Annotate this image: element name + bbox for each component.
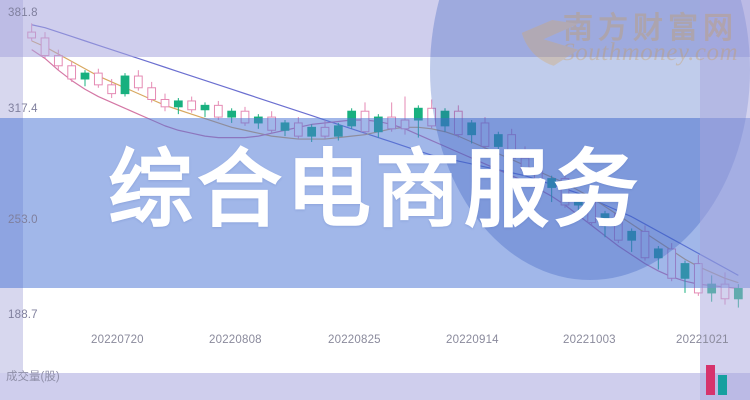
y-axis-tick: 317.4 xyxy=(8,103,38,115)
x-axis-tick: 20221003 xyxy=(563,334,616,346)
volume-axis-label: 成交量(股) xyxy=(6,368,60,384)
stock-chart-banner: 381.8317.4253.0188.7 2022072020220808202… xyxy=(0,0,750,400)
y-axis-tick: 253.0 xyxy=(8,214,38,226)
x-axis-tick: 20220914 xyxy=(446,334,499,346)
x-axis-tick: 20220808 xyxy=(209,334,262,346)
volume-bar xyxy=(706,365,715,395)
x-axis-tick: 20221021 xyxy=(676,334,729,346)
y-axis-tick: 188.7 xyxy=(8,309,38,321)
x-axis-tick: 20220825 xyxy=(328,334,381,346)
volume-bar xyxy=(718,375,727,395)
y-axis-tick: 381.8 xyxy=(8,7,38,19)
x-axis-tick: 20220720 xyxy=(91,334,144,346)
